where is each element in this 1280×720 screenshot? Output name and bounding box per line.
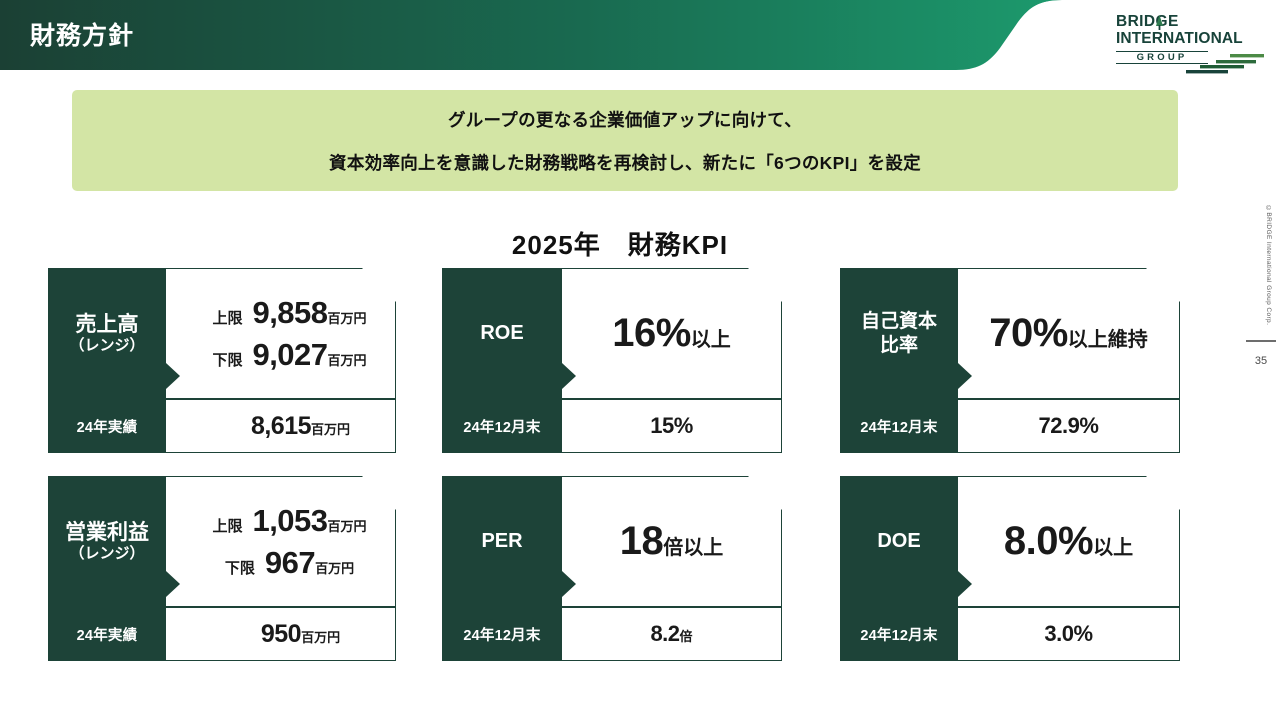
card-label-panel: 自己資本比率24年12月末 <box>840 268 958 453</box>
card-label: 営業利益（レンジ） <box>48 476 166 607</box>
card-actual-value: 15% <box>650 413 693 439</box>
card-target-upper-unit: 百万円 <box>328 516 367 535</box>
card-target-value: 18 <box>620 519 664 564</box>
card-target-suffix: 以上 <box>1093 531 1133 560</box>
card-target-lower-prefix: 下限 <box>225 557 255 578</box>
logo-line-bridge: BRIDGE <box>1116 14 1266 30</box>
page-number: 35 <box>1246 355 1276 367</box>
kpi-card-net-sales: 売上高（レンジ）24年実績上限9,858百万円下限9,027百万円8,615百万… <box>48 268 396 453</box>
card-actual-row: 950百万円 <box>221 620 340 649</box>
card-label: PER <box>442 476 562 607</box>
card-actual-value: 950 <box>261 620 301 649</box>
card-target-value: 70% <box>989 311 1068 356</box>
card-label-panel: 売上高（レンジ）24年実績 <box>48 268 166 453</box>
page-title: 財務方針 <box>30 16 134 52</box>
copyright-text: ©BRIDGE International Group Corp. <box>1265 205 1272 325</box>
card-label-line-1: 売上高 <box>76 312 139 338</box>
card-label-line-1: ROE <box>480 321 523 345</box>
card-target-upper-prefix: 上限 <box>212 515 242 536</box>
card-target-upper-row: 上限9,858百万円 <box>212 295 366 331</box>
card-target-suffix: 以上維持 <box>1068 323 1148 352</box>
card-actual-row: 8,615百万円 <box>211 412 350 441</box>
card-actual-value: 8,615 <box>251 412 311 441</box>
card-actual-panel: 15% <box>562 399 782 453</box>
card-target-suffix: 倍以上 <box>663 531 723 560</box>
card-target-row: 18倍以上 <box>620 519 724 564</box>
card-label-line-1: 自己資本 <box>861 310 937 333</box>
card-target-value: 8.0% <box>1004 519 1093 564</box>
card-label: ROE <box>442 268 562 399</box>
card-label-line-1: 営業利益 <box>65 520 149 546</box>
card-actual-label: 24年12月末 <box>840 607 958 661</box>
card-target-upper-row: 上限1,053百万円 <box>212 503 366 539</box>
kpi-card-equity-ratio: 自己資本比率24年12月末70%以上維持72.9% <box>840 268 1180 453</box>
card-target-lower-row: 下限967百万円 <box>225 545 354 581</box>
card-target-lower-prefix: 下限 <box>212 349 242 370</box>
card-actual-label: 24年実績 <box>48 607 166 661</box>
card-actual-unit: 百万円 <box>311 419 350 438</box>
card-label: 自己資本比率 <box>840 268 958 399</box>
card-actual-unit: 百万円 <box>301 627 340 646</box>
card-pointer-arrow <box>958 363 972 389</box>
logo-bars-icon <box>1178 54 1266 74</box>
card-target-suffix: 以上 <box>691 323 731 352</box>
card-actual-panel: 950百万円 <box>166 607 396 661</box>
card-target-row: 8.0%以上 <box>1004 519 1133 564</box>
card-actual-row: 15% <box>650 413 693 439</box>
card-actual-row: 72.9% <box>1039 413 1099 439</box>
kpi-card-roe: ROE24年12月末16%以上15% <box>442 268 782 453</box>
card-actual-label: 24年12月末 <box>442 607 562 661</box>
card-target-value: 16% <box>612 311 691 356</box>
kpi-card-grid: 売上高（レンジ）24年実績上限9,858百万円下限9,027百万円8,615百万… <box>0 0 1280 720</box>
tree-icon <box>1155 15 1164 30</box>
card-target-row: 70%以上維持 <box>989 311 1148 356</box>
card-actual-value: 3.0% <box>1044 621 1092 647</box>
card-pointer-arrow <box>562 363 576 389</box>
rail-divider <box>1246 340 1276 342</box>
card-pointer-arrow <box>166 571 180 597</box>
card-actual-panel: 8,615百万円 <box>166 399 396 453</box>
card-label: DOE <box>840 476 958 607</box>
card-actual-panel: 8.2倍 <box>562 607 782 661</box>
card-target-panel: 70%以上維持 <box>958 268 1180 399</box>
card-target-upper-prefix: 上限 <box>212 307 242 328</box>
card-actual-panel: 3.0% <box>958 607 1180 661</box>
brand-logo: BRIDGE INTERNATIONAL GROUP <box>1116 14 1266 72</box>
card-label-panel: ROE24年12月末 <box>442 268 562 453</box>
card-target-lower-unit: 百万円 <box>328 350 367 369</box>
card-pointer-arrow <box>562 571 576 597</box>
card-target-lower-row: 下限9,027百万円 <box>212 337 366 373</box>
card-label-line-2: 比率 <box>880 334 918 357</box>
card-label-panel: DOE24年12月末 <box>840 476 958 661</box>
kpi-card-operating-profit: 営業利益（レンジ）24年実績上限1,053百万円下限967百万円950百万円 <box>48 476 396 661</box>
card-pointer-arrow <box>958 571 972 597</box>
card-actual-value: 72.9% <box>1039 413 1099 439</box>
card-actual-label: 24年実績 <box>48 399 166 453</box>
card-label-line-2: （レンジ） <box>69 337 144 355</box>
card-label-panel: PER24年12月末 <box>442 476 562 661</box>
card-actual-value: 8.2 <box>650 621 679 647</box>
card-actual-unit: 倍 <box>680 626 693 645</box>
kpi-card-doe: DOE24年12月末8.0%以上3.0% <box>840 476 1180 661</box>
card-pointer-arrow <box>166 363 180 389</box>
card-target-lower-value: 9,027 <box>252 337 327 373</box>
card-target-lower-unit: 百万円 <box>315 558 354 577</box>
card-actual-row: 3.0% <box>1044 621 1092 647</box>
card-actual-label: 24年12月末 <box>840 399 958 453</box>
card-actual-panel: 72.9% <box>958 399 1180 453</box>
card-target-panel: 18倍以上 <box>562 476 782 607</box>
kpi-card-per: PER24年12月末18倍以上8.2倍 <box>442 476 782 661</box>
card-target-lower-value: 967 <box>265 545 315 581</box>
logo-line-international: INTERNATIONAL <box>1116 30 1266 47</box>
card-label: 売上高（レンジ） <box>48 268 166 399</box>
card-target-upper-value: 1,053 <box>252 503 327 539</box>
card-label-line-1: DOE <box>877 529 920 553</box>
card-label-line-2: （レンジ） <box>69 545 144 563</box>
card-label-line-1: PER <box>481 529 522 553</box>
card-target-upper-unit: 百万円 <box>328 308 367 327</box>
card-target-panel: 上限1,053百万円下限967百万円 <box>166 476 396 607</box>
card-target-row: 16%以上 <box>612 311 731 356</box>
card-label-panel: 営業利益（レンジ）24年実績 <box>48 476 166 661</box>
card-actual-label: 24年12月末 <box>442 399 562 453</box>
card-target-panel: 16%以上 <box>562 268 782 399</box>
card-actual-row: 8.2倍 <box>650 621 692 647</box>
card-target-upper-value: 9,858 <box>252 295 327 331</box>
card-target-panel: 上限9,858百万円下限9,027百万円 <box>166 268 396 399</box>
card-target-panel: 8.0%以上 <box>958 476 1180 607</box>
